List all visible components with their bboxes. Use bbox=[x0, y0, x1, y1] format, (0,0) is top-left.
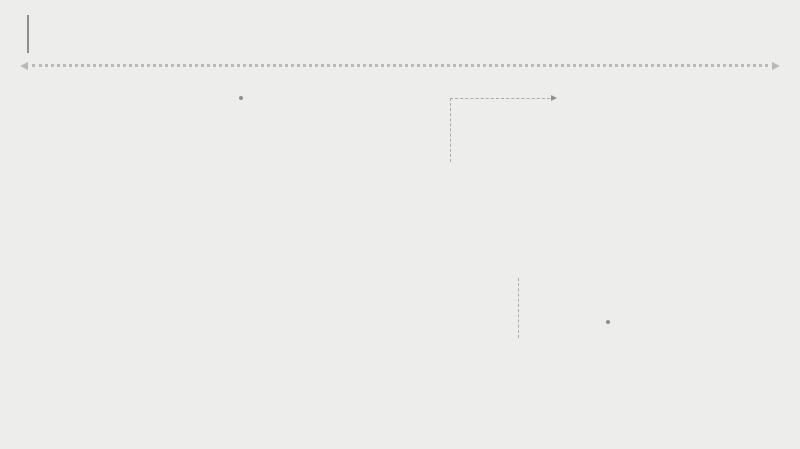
marker-dot-top-left bbox=[239, 96, 243, 100]
connector-top-right-arrow-icon bbox=[551, 95, 557, 101]
marker-dot-bottom-right bbox=[606, 320, 610, 324]
funnel-zigzag-chart bbox=[250, 125, 550, 315]
rule-dotted-line bbox=[32, 64, 768, 67]
connector-top-right-horizontal bbox=[450, 98, 550, 99]
corporate-block-bottom-right bbox=[617, 300, 800, 305]
corporate-block-top-left bbox=[122, 76, 302, 81]
rule-left-arrow-icon bbox=[20, 62, 28, 70]
zigzag-ribbon bbox=[250, 125, 550, 315]
corporate-block-top-right bbox=[566, 88, 756, 93]
header-divider bbox=[27, 15, 29, 53]
slide-header bbox=[18, 14, 39, 53]
slide-canvas bbox=[0, 0, 800, 449]
rule-right-arrow-icon bbox=[772, 62, 780, 70]
header-dotted-rule bbox=[20, 62, 780, 69]
